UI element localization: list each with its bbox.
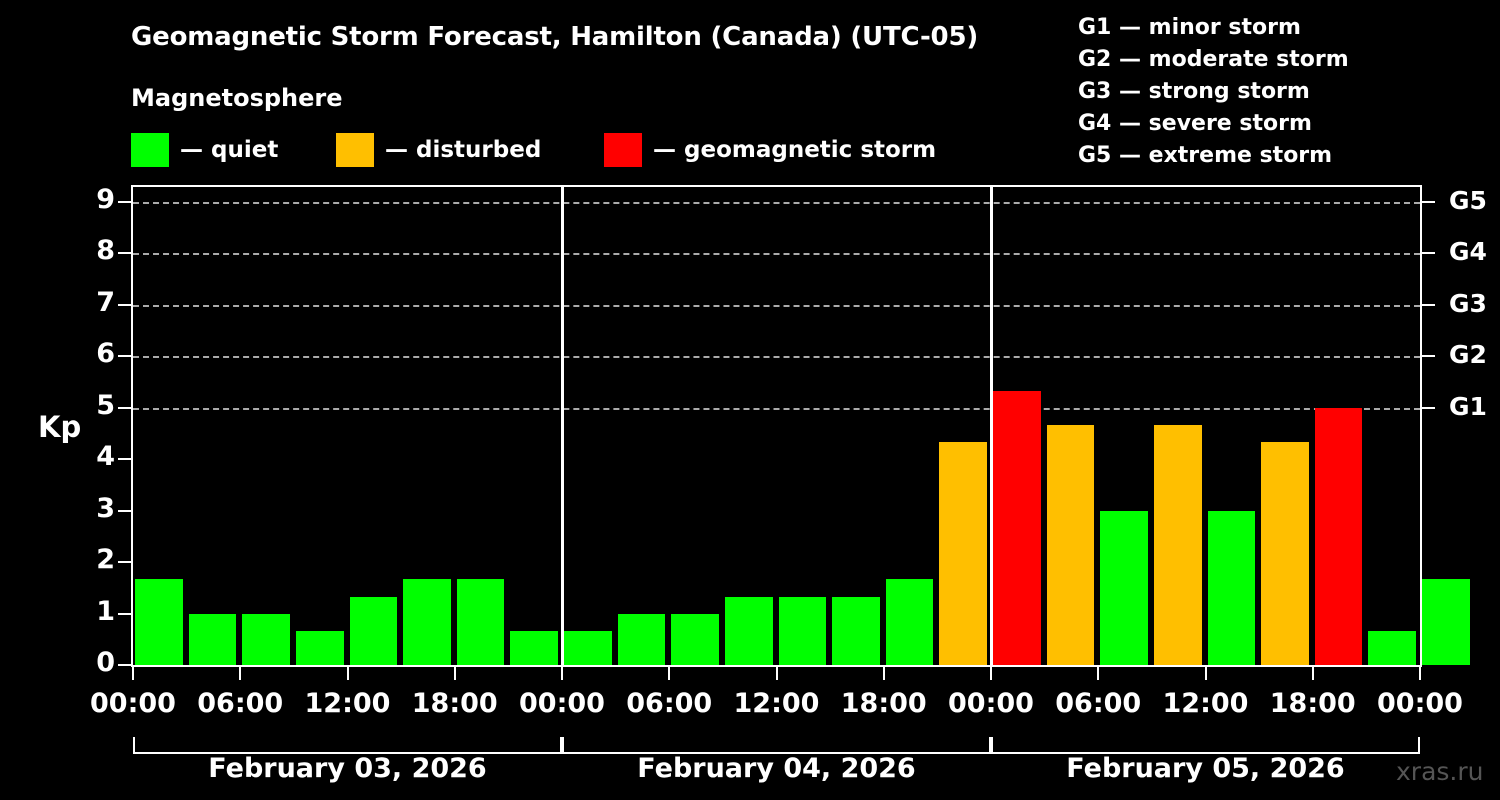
g-tick-label-g1: G1 [1449, 394, 1487, 419]
x-tick-mark-0 [132, 667, 134, 680]
y-tick-label-1: 1 [96, 598, 115, 625]
bar [403, 579, 451, 665]
y-tick-mark-8 [118, 252, 131, 254]
x-tick-label-11: 18:00 [1270, 688, 1356, 719]
date-label-2: February 04, 2026 [637, 753, 915, 784]
gscale-legend: G1 — minor stormG2 — moderate stormG3 — … [1078, 12, 1349, 172]
x-tick-label-6: 12:00 [734, 688, 820, 719]
plot-area [133, 187, 1420, 665]
y-tick-mark-3 [118, 510, 131, 512]
x-tick-label-12: 00:00 [1377, 688, 1463, 719]
bar [135, 579, 183, 665]
bar [1315, 408, 1363, 665]
y-tick-mark-0 [118, 664, 131, 666]
gridline-kp-6 [133, 356, 1420, 358]
y-tick-label-5: 5 [96, 392, 115, 419]
page-title: Geomagnetic Storm Forecast, Hamilton (Ca… [131, 22, 978, 52]
bar [510, 631, 558, 665]
x-tick-mark-3 [454, 667, 456, 680]
quiet-swatch [131, 133, 169, 167]
y-tick-label-9: 9 [96, 186, 115, 213]
x-tick-label-0: 00:00 [90, 688, 176, 719]
g-tick-label-g4: G4 [1449, 239, 1487, 264]
x-tick-label-1: 06:00 [197, 688, 283, 719]
y-tick-label-8: 8 [96, 237, 115, 264]
g-tick-mark-g4 [1422, 252, 1435, 254]
date-bracket-2 [562, 737, 991, 754]
bar [725, 597, 773, 665]
y-tick-label-3: 3 [96, 495, 115, 522]
g-tick-mark-g1 [1422, 407, 1435, 409]
legend-label: — quiet [180, 137, 278, 163]
x-tick-mark-4 [561, 667, 563, 680]
y-tick-mark-2 [118, 561, 131, 563]
x-tick-mark-6 [776, 667, 778, 680]
y-tick-mark-4 [118, 458, 131, 460]
legend-entry-2: — disturbed [336, 131, 541, 169]
bar [1208, 511, 1256, 665]
watermark: xras.ru [1396, 757, 1484, 786]
g-tick-mark-g5 [1422, 201, 1435, 203]
bar [1100, 511, 1148, 665]
legend-label: — disturbed [385, 137, 541, 163]
x-tick-label-3: 18:00 [412, 688, 498, 719]
x-tick-mark-5 [668, 667, 670, 680]
x-tick-mark-10 [1205, 667, 1207, 680]
x-tick-label-10: 12:00 [1163, 688, 1249, 719]
magnetosphere-section-label: Magnetosphere [131, 84, 343, 112]
date-bracket-1 [133, 737, 562, 754]
y-tick-mark-7 [118, 304, 131, 306]
bar [886, 579, 934, 665]
bar [1368, 631, 1416, 665]
gscale-legend-row-2: G2 — moderate storm [1078, 44, 1349, 76]
y-tick-mark-5 [118, 407, 131, 409]
gridline-kp-7 [133, 305, 1420, 307]
legend-label: — geomagnetic storm [653, 137, 936, 163]
date-bracket-3 [991, 737, 1420, 754]
bar [189, 614, 237, 665]
date-label-3: February 05, 2026 [1066, 753, 1344, 784]
x-tick-mark-8 [990, 667, 992, 680]
gridline-kp-9 [133, 202, 1420, 204]
disturbed-swatch [336, 133, 374, 167]
bar [1261, 442, 1309, 665]
legend-entry-3: — geomagnetic storm [604, 131, 936, 169]
x-tick-label-4: 00:00 [519, 688, 605, 719]
gscale-legend-row-5: G5 — extreme storm [1078, 140, 1349, 172]
gscale-legend-row-4: G4 — severe storm [1078, 108, 1349, 140]
gscale-legend-row-1: G1 — minor storm [1078, 12, 1349, 44]
bar [350, 597, 398, 665]
day-separator-2 [990, 185, 993, 665]
storm-swatch [604, 133, 642, 167]
gridline-kp-5 [133, 408, 1420, 410]
bar [242, 614, 290, 665]
x-tick-mark-9 [1097, 667, 1099, 680]
x-tick-label-7: 18:00 [841, 688, 927, 719]
g-tick-mark-g2 [1422, 355, 1435, 357]
y-axis-label: Kp [38, 410, 81, 444]
x-tick-label-8: 00:00 [948, 688, 1034, 719]
y-tick-label-2: 2 [96, 546, 115, 573]
day-separator-1 [561, 185, 564, 665]
date-label-1: February 03, 2026 [208, 753, 486, 784]
bar [779, 597, 827, 665]
gscale-legend-row-3: G3 — strong storm [1078, 76, 1349, 108]
y-tick-mark-1 [118, 613, 131, 615]
y-tick-label-0: 0 [96, 649, 115, 676]
g-tick-label-g2: G2 [1449, 342, 1487, 367]
y-tick-label-4: 4 [96, 443, 115, 470]
y-tick-mark-9 [118, 201, 131, 203]
legend-entry-1: — quiet [131, 131, 278, 169]
x-tick-label-2: 12:00 [305, 688, 391, 719]
y-tick-label-6: 6 [96, 340, 115, 367]
x-tick-label-5: 06:00 [626, 688, 712, 719]
bar [832, 597, 880, 665]
bar [939, 442, 987, 665]
x-tick-mark-1 [239, 667, 241, 680]
bar [457, 579, 505, 665]
bar [993, 391, 1041, 665]
bar [564, 631, 612, 665]
g-tick-label-g3: G3 [1449, 291, 1487, 316]
y-tick-mark-6 [118, 355, 131, 357]
bar [1422, 579, 1470, 665]
x-tick-label-9: 06:00 [1055, 688, 1141, 719]
bar [296, 631, 344, 665]
g-tick-mark-g3 [1422, 304, 1435, 306]
bar [1047, 425, 1095, 665]
x-tick-mark-2 [347, 667, 349, 680]
x-tick-mark-12 [1419, 667, 1421, 680]
bar [671, 614, 719, 665]
bar [618, 614, 666, 665]
bar [1154, 425, 1202, 665]
y-tick-label-7: 7 [96, 289, 115, 316]
x-tick-mark-7 [883, 667, 885, 680]
x-tick-mark-11 [1312, 667, 1314, 680]
gridline-kp-8 [133, 253, 1420, 255]
g-tick-label-g5: G5 [1449, 188, 1487, 213]
